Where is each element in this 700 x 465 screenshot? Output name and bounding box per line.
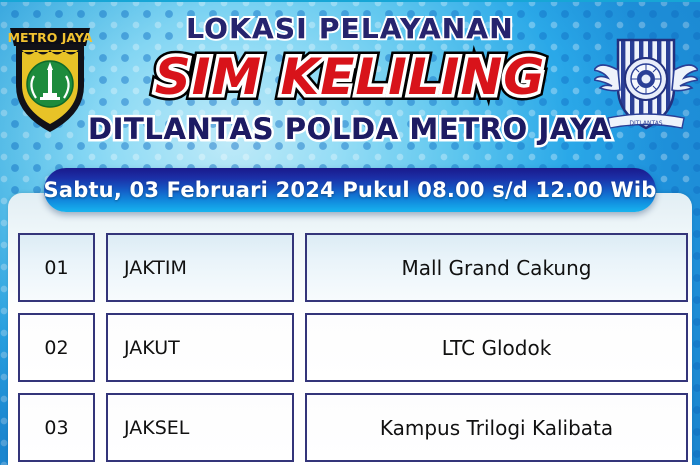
row-location: Mall Grand Cakung <box>402 256 592 280</box>
row-location: Kampus Trilogi Kalibata <box>380 416 613 440</box>
date-banner: Sabtu, 03 Februari 2024 Pukul 08.00 s/d … <box>44 168 656 212</box>
row-area: JAKUT <box>124 337 180 359</box>
row-area: JAKTIM <box>124 257 187 279</box>
table-cell-no: 02 <box>18 313 95 382</box>
row-number: 01 <box>44 257 68 279</box>
row-number: 02 <box>44 337 68 359</box>
table-cell-location: Mall Grand Cakung <box>305 233 688 302</box>
sim-keliling-poster: METRO JAYA <box>0 0 700 465</box>
table-cell-area: JAKSEL <box>106 393 294 462</box>
header-line-2: SIM KELILING <box>0 48 700 106</box>
row-number: 03 <box>44 417 68 439</box>
table-cell-no: 03 <box>18 393 95 462</box>
poster-header: METRO JAYA <box>0 0 700 160</box>
table-cell-location: Kampus Trilogi Kalibata <box>305 393 688 462</box>
header-line-3: DITLANTAS POLDA METRO JAYA <box>0 112 700 146</box>
table-cell-no: 01 <box>18 233 95 302</box>
table-row: 03 JAKSEL Kampus Trilogi Kalibata <box>18 393 688 462</box>
table-row: 02 JAKUT LTC Glodok <box>18 313 688 382</box>
locations-table: 01 JAKTIM Mall Grand Cakung 02 JAKUT LTC… <box>18 233 688 465</box>
table-cell-area: JAKUT <box>106 313 294 382</box>
date-banner-text: Sabtu, 03 Februari 2024 Pukul 08.00 s/d … <box>44 178 657 202</box>
row-location: LTC Glodok <box>442 336 552 360</box>
row-area: JAKSEL <box>124 417 189 439</box>
table-cell-location: LTC Glodok <box>305 313 688 382</box>
table-row: 01 JAKTIM Mall Grand Cakung <box>18 233 688 302</box>
table-cell-area: JAKTIM <box>106 233 294 302</box>
header-line-1: LOKASI PELAYANAN <box>0 12 700 45</box>
